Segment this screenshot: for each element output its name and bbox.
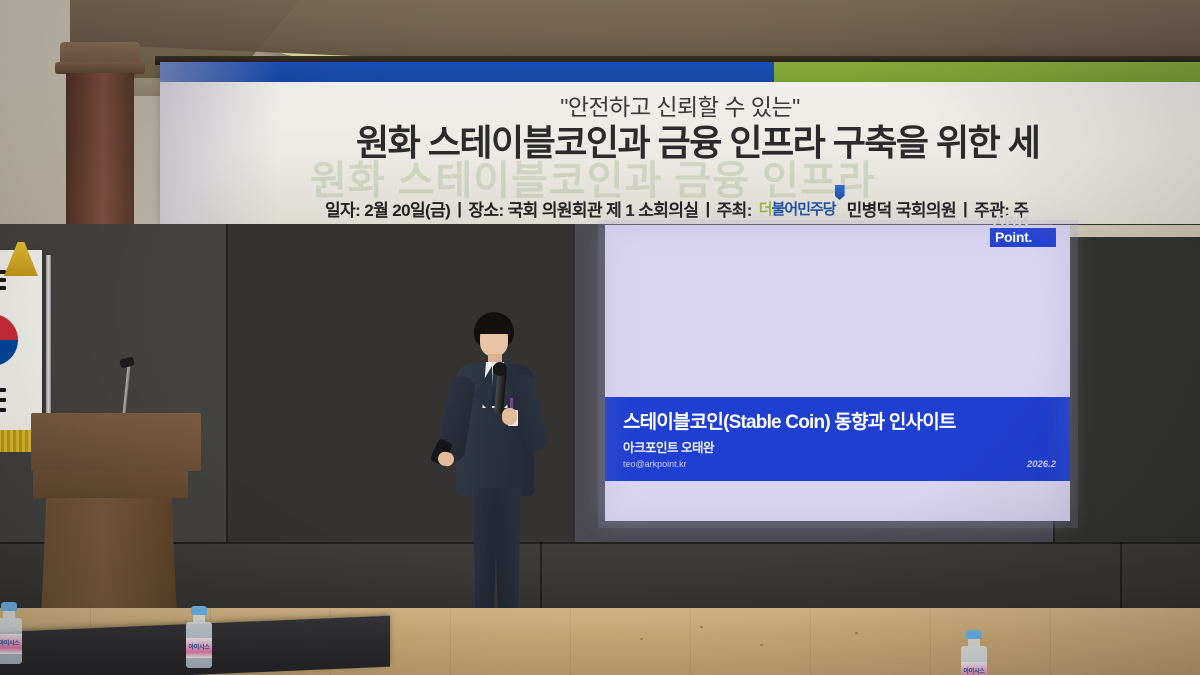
microphone-head-icon: [493, 362, 507, 376]
banner-headline: 원화 스테이블코인과 금융 인프라 구축을 위한 세: [160, 114, 1200, 166]
banner-date: 일자: 2월 20일(금): [325, 196, 450, 221]
bottle-body: 아이시스: [0, 618, 22, 664]
bottle-label-text: 아이시스: [961, 666, 987, 675]
trigram-bar: [0, 286, 6, 290]
presenter-trouser-right: [494, 488, 522, 618]
presenter-trouser-left: [472, 488, 498, 618]
event-banner: 원화 스테이블코인과 금융 인프라 "안전하고 신뢰할 수 있는" 원화 스테이…: [160, 62, 1200, 224]
podium-body: [41, 496, 177, 620]
slide-title: 스테이블코인(Stable Coin) 동향과 인사이트: [623, 407, 1060, 434]
water-bottle: 아이시스: [186, 606, 212, 668]
bottle-body: 아이시스: [186, 622, 212, 668]
conference-photo-scene: 원화 스테이블코인과 금융 인프라 "안전하고 신뢰할 수 있는" 원화 스테이…: [0, 0, 1200, 675]
banner-fold-shadow: [160, 62, 280, 224]
podium-top: [31, 413, 201, 471]
trigram-bar: [0, 388, 6, 392]
banner-color-stripe: [160, 62, 1200, 82]
trigram-bar: [0, 398, 6, 402]
trigram-bar: [0, 408, 6, 412]
banner-host-name: 민병덕 국회의원: [847, 196, 956, 221]
party-flag-icon: [835, 185, 845, 200]
banner-separator-3: |: [963, 199, 967, 219]
water-bottle: 아이시스: [961, 630, 987, 675]
arkpoint-logo-bottom: Point.: [990, 228, 1056, 247]
slide-lower-area: [605, 481, 1070, 521]
trigram-bar: [0, 278, 6, 282]
left-wall: [0, 0, 70, 250]
presenter-hand-right: [502, 408, 517, 425]
south-korean-flag: [0, 250, 42, 435]
banner-separator-2: |: [705, 199, 709, 219]
slide-presenter-email: teo@arkpoint.kr: [623, 459, 687, 469]
stripe-green: [774, 62, 1200, 82]
bottle-neck: [968, 639, 980, 646]
bottle-neck: [193, 615, 205, 622]
podium-neck: [33, 468, 188, 498]
water-bottle: 아이시스: [0, 602, 22, 664]
democratic-party-logo: 더불어민주당: [759, 198, 840, 219]
bottle-cap: [1, 602, 17, 611]
projected-slide: ARK Point. 스테이블코인(Stable Coin) 동향과 인사이트 …: [605, 225, 1070, 521]
presenter-person: [430, 312, 550, 642]
slide-title-band: 스테이블코인(Stable Coin) 동향과 인사이트 아크포인트 오태완 t…: [605, 397, 1070, 481]
backdrop-seam: [573, 224, 575, 564]
bottle-cap: [966, 630, 982, 639]
banner-venue: 장소: 국회 의원회관 제 1 소회의실: [468, 196, 698, 221]
bottle-neck: [3, 611, 15, 618]
party-logo-part1: 더: [759, 198, 772, 219]
backdrop-panel-right: [1053, 224, 1200, 564]
slide-presenter-name: 아크포인트 오태완: [623, 437, 714, 456]
arkpoint-logo: ARK Point.: [990, 214, 1056, 247]
bottle-body: 아이시스: [961, 646, 987, 675]
bottle-label-text: 아이시스: [186, 642, 212, 651]
backdrop-seam: [226, 224, 228, 564]
arkpoint-logo-top: ARK: [990, 214, 1056, 228]
right-wall-strip: [1053, 225, 1200, 237]
slide-date: 2026.2: [1027, 459, 1056, 470]
slide-upper-area: ARK Point.: [605, 225, 1070, 397]
bottle-cap: [191, 606, 207, 615]
bottle-label-text: 아이시스: [0, 638, 22, 647]
backdrop-baseboard: [0, 542, 1200, 612]
banner-host-label: 주최:: [717, 196, 752, 221]
party-logo-part3: 민주당: [797, 198, 835, 219]
party-logo-part2: 불어: [772, 198, 798, 219]
banner-separator-1: |: [457, 199, 461, 219]
baseboard-seam: [1120, 542, 1122, 610]
taeguk-symbol: [0, 314, 18, 366]
presenter-hair-fringe: [475, 318, 513, 334]
hall-pillar: [66, 73, 134, 248]
